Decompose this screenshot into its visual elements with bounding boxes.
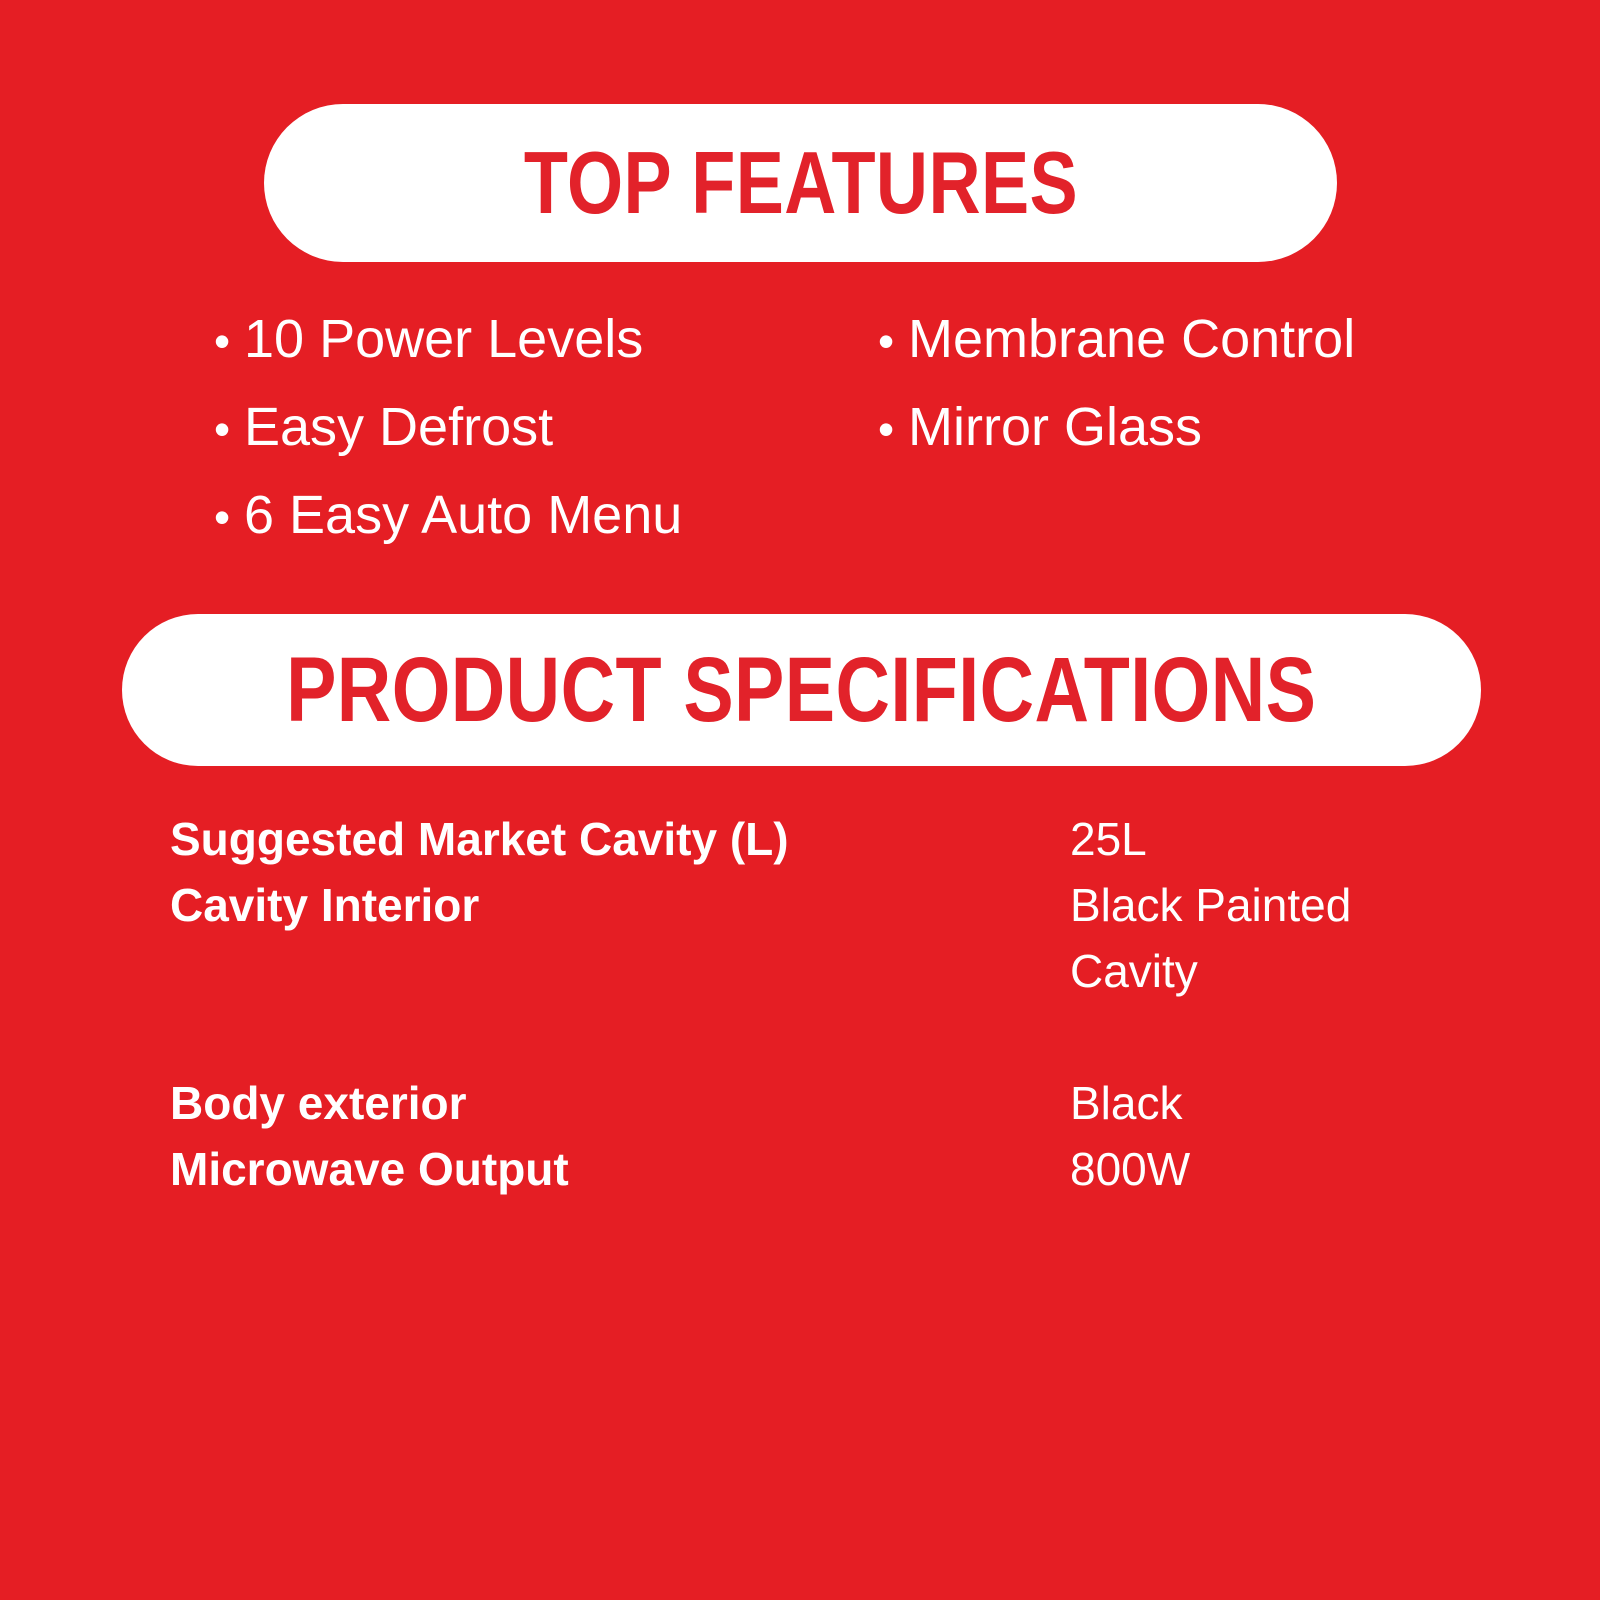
bullet-icon: • [214, 298, 244, 384]
spec-label: Cavity Interior [170, 872, 1070, 938]
bullet-icon: • [878, 298, 908, 384]
top-features-list: • 10 Power Levels • Easy Defrost • 6 Eas… [0, 296, 1600, 576]
list-item: • Mirror Glass [878, 384, 1355, 472]
list-item: • Easy Defrost [214, 384, 682, 472]
bullet-icon: • [214, 386, 244, 472]
spec-value [1070, 1004, 1460, 1070]
top-features-heading-text: TOP FEATURES [523, 139, 1077, 227]
table-row: Microwave Output 800W [170, 1136, 1470, 1202]
page-root: TOP FEATURES • 10 Power Levels • Easy De… [0, 0, 1600, 1600]
product-specifications-heading-text: PRODUCT SPECIFICATIONS [286, 644, 1316, 736]
table-row-spacer [170, 1004, 1470, 1070]
list-item: • Membrane Control [878, 296, 1355, 384]
spec-value: 800W [1070, 1136, 1460, 1202]
feature-label: Mirror Glass [908, 384, 1202, 470]
bullet-icon: • [214, 474, 244, 560]
spec-label [170, 1004, 1070, 1070]
spec-value: Black [1070, 1070, 1460, 1136]
feature-label: Easy Defrost [244, 384, 553, 470]
spec-label: Microwave Output [170, 1136, 1070, 1202]
features-column-left: • 10 Power Levels • Easy Defrost • 6 Eas… [214, 296, 682, 560]
feature-label: Membrane Control [908, 296, 1355, 382]
spec-value: 25L [1070, 806, 1460, 872]
bullet-icon: • [878, 386, 908, 472]
product-specifications-heading-pill: PRODUCT SPECIFICATIONS [122, 614, 1481, 766]
specifications-table: Suggested Market Cavity (L) 25L Cavity I… [170, 806, 1470, 1202]
spec-value: Black Painted Cavity [1070, 872, 1460, 1004]
spec-label: Suggested Market Cavity (L) [170, 806, 1070, 872]
features-column-right: • Membrane Control • Mirror Glass [878, 296, 1355, 472]
list-item: • 10 Power Levels [214, 296, 682, 384]
table-row: Body exterior Black [170, 1070, 1470, 1136]
top-features-heading-pill: TOP FEATURES [264, 104, 1337, 262]
spec-label: Body exterior [170, 1070, 1070, 1136]
table-row: Suggested Market Cavity (L) 25L [170, 806, 1470, 872]
list-item: • 6 Easy Auto Menu [214, 472, 682, 560]
table-row: Cavity Interior Black Painted Cavity [170, 872, 1470, 1004]
feature-label: 6 Easy Auto Menu [244, 472, 682, 558]
feature-label: 10 Power Levels [244, 296, 643, 382]
